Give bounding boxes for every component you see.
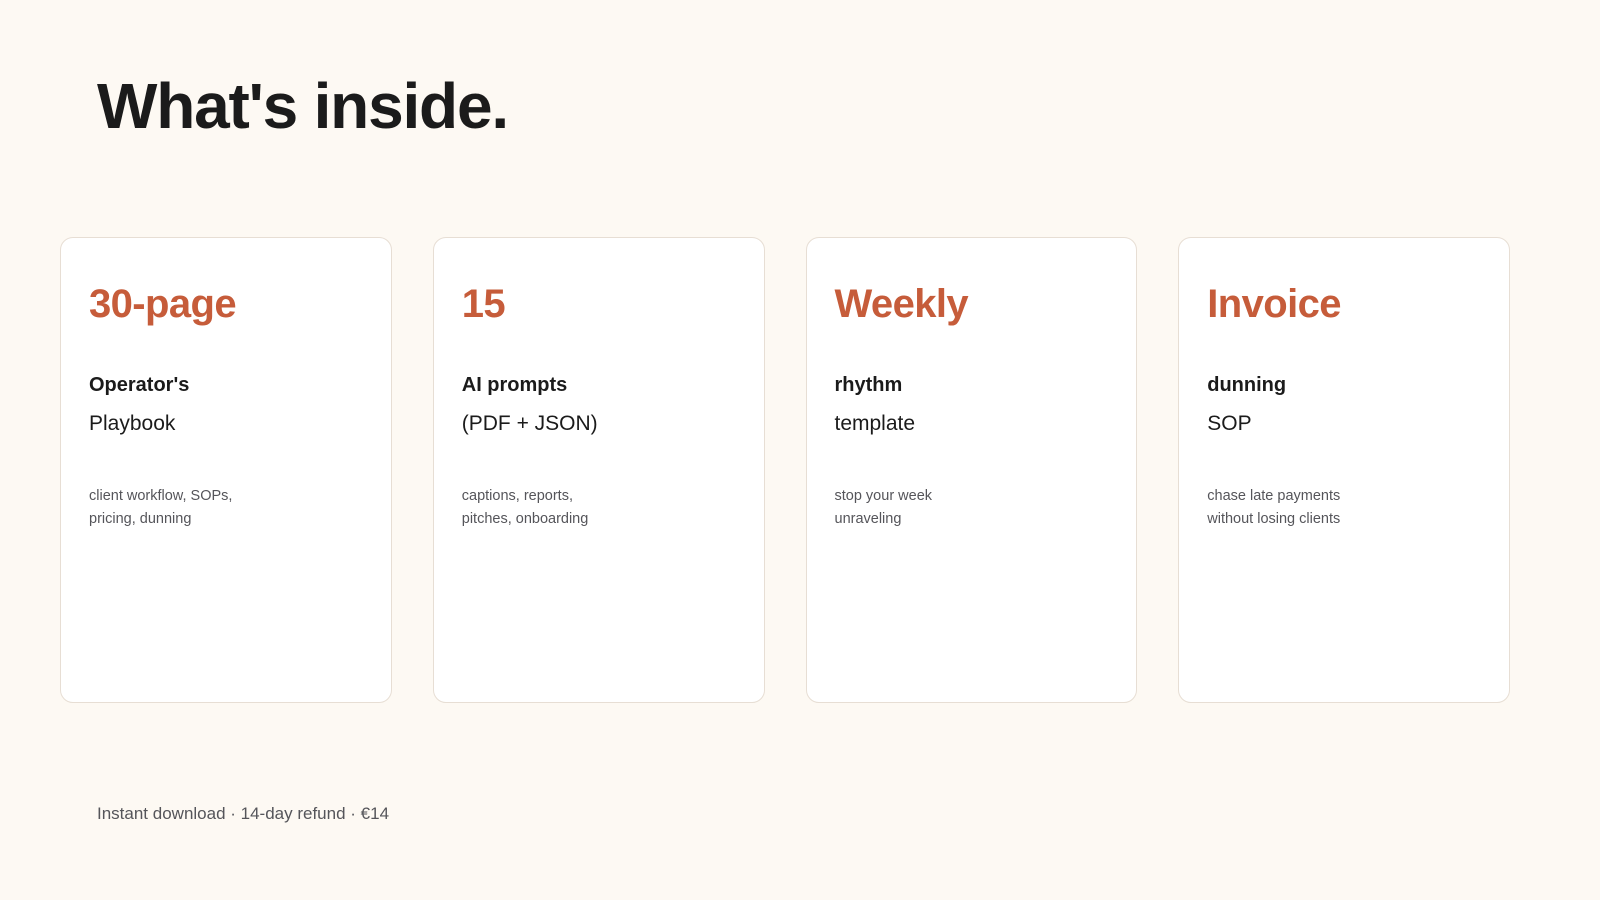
card-sublabel: SOP [1207, 413, 1481, 434]
card-note-line: without losing clients [1207, 508, 1481, 531]
card-label: Operator's [89, 375, 363, 395]
card-note-line: captions, reports, [462, 485, 736, 508]
card-note-line: pricing, dunning [89, 508, 363, 531]
purchase-terms-note: Instant download · 14-day refund · €14 [97, 804, 389, 824]
card-label: AI prompts [462, 375, 736, 395]
card-label: dunning [1207, 375, 1481, 395]
page-title: What's inside. [97, 74, 508, 138]
feature-card-ai-prompts[interactable]: 15 AI prompts (PDF + JSON) captions, rep… [433, 237, 765, 703]
card-note-line: stop your week [835, 485, 1109, 508]
card-note-line: client workflow, SOPs, [89, 485, 363, 508]
feature-card-grid: 30-page Operator's Playbook client workf… [60, 237, 1510, 703]
card-sublabel: template [835, 413, 1109, 434]
feature-card-weekly-rhythm[interactable]: Weekly rhythm template stop your week un… [806, 237, 1138, 703]
card-note: captions, reports, pitches, onboarding [462, 485, 736, 531]
card-note: stop your week unraveling [835, 485, 1109, 531]
feature-card-playbook[interactable]: 30-page Operator's Playbook client workf… [60, 237, 392, 703]
card-sublabel: (PDF + JSON) [462, 413, 736, 434]
card-note-line: unraveling [835, 508, 1109, 531]
card-note-line: pitches, onboarding [462, 508, 736, 531]
card-stat: 15 [462, 284, 736, 324]
feature-card-invoice-dunning[interactable]: Invoice dunning SOP chase late payments … [1178, 237, 1510, 703]
card-stat: 30-page [89, 284, 363, 324]
page-root: What's inside. 30-page Operator's Playbo… [0, 0, 1600, 900]
card-stat: Invoice [1207, 284, 1481, 324]
card-label: rhythm [835, 375, 1109, 395]
card-note: client workflow, SOPs, pricing, dunning [89, 485, 363, 531]
card-note-line: chase late payments [1207, 485, 1481, 508]
card-sublabel: Playbook [89, 413, 363, 434]
card-note: chase late payments without losing clien… [1207, 485, 1481, 531]
card-stat: Weekly [835, 284, 1109, 324]
